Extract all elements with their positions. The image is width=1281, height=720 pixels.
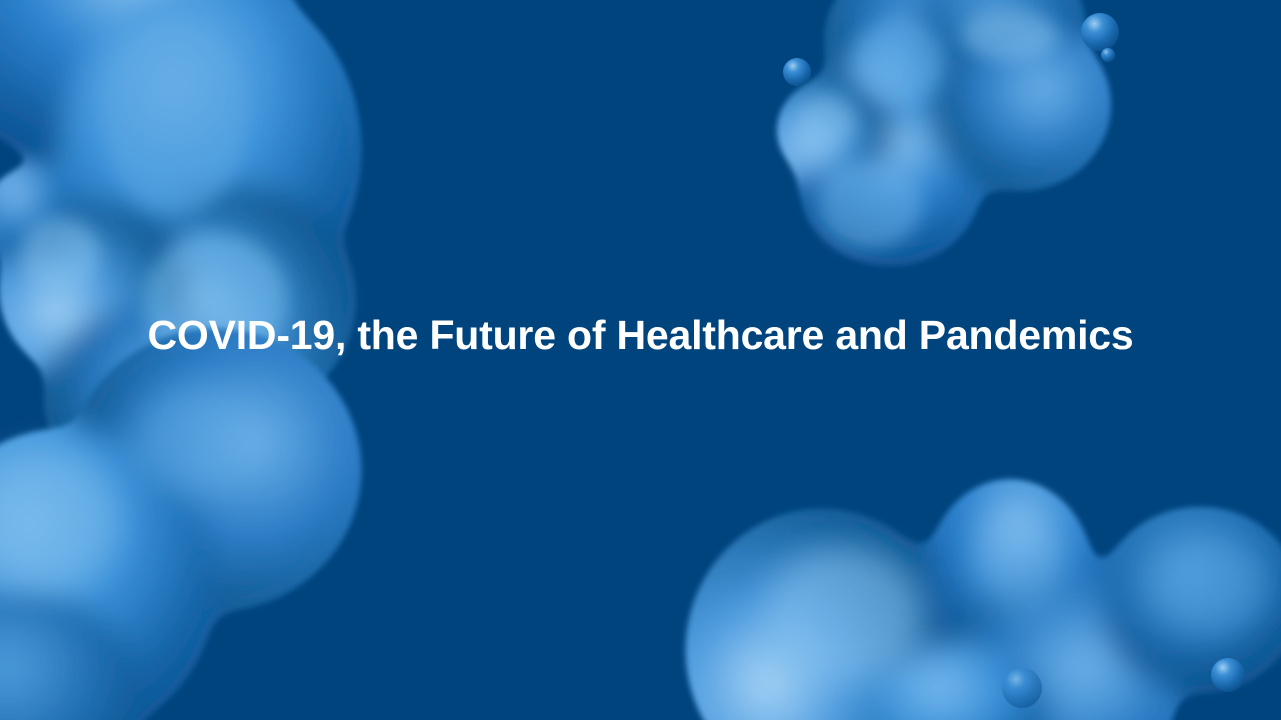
top-right-blob-cluster [777, 0, 1110, 265]
top-right-satellite-bubbles [783, 13, 1119, 86]
bottom-right-blob-highlights [765, 508, 1270, 685]
top-left-blob-cluster [0, 0, 360, 495]
page-title: COVID-19, the Future of Healthcare and P… [147, 315, 1133, 356]
top-right-blob-highlights [796, 9, 1058, 249]
bubble-small-b [1081, 13, 1119, 51]
title-block: COVID-19, the Future of Healthcare and P… [0, 300, 1281, 370]
bottom-right-blob-cluster [687, 480, 1281, 720]
bottom-left-blob-highlights [0, 388, 250, 590]
title-slide: COVID-19, the Future of Healthcare and P… [0, 0, 1281, 720]
bubble-small-e [1002, 668, 1042, 708]
bubble-small-a [783, 58, 811, 86]
bottom-right-satellite-bubbles [1002, 658, 1245, 708]
bubble-small-c [1101, 48, 1115, 62]
bottom-left-blob-cluster [0, 330, 360, 720]
bubble-small-d [1211, 658, 1245, 692]
